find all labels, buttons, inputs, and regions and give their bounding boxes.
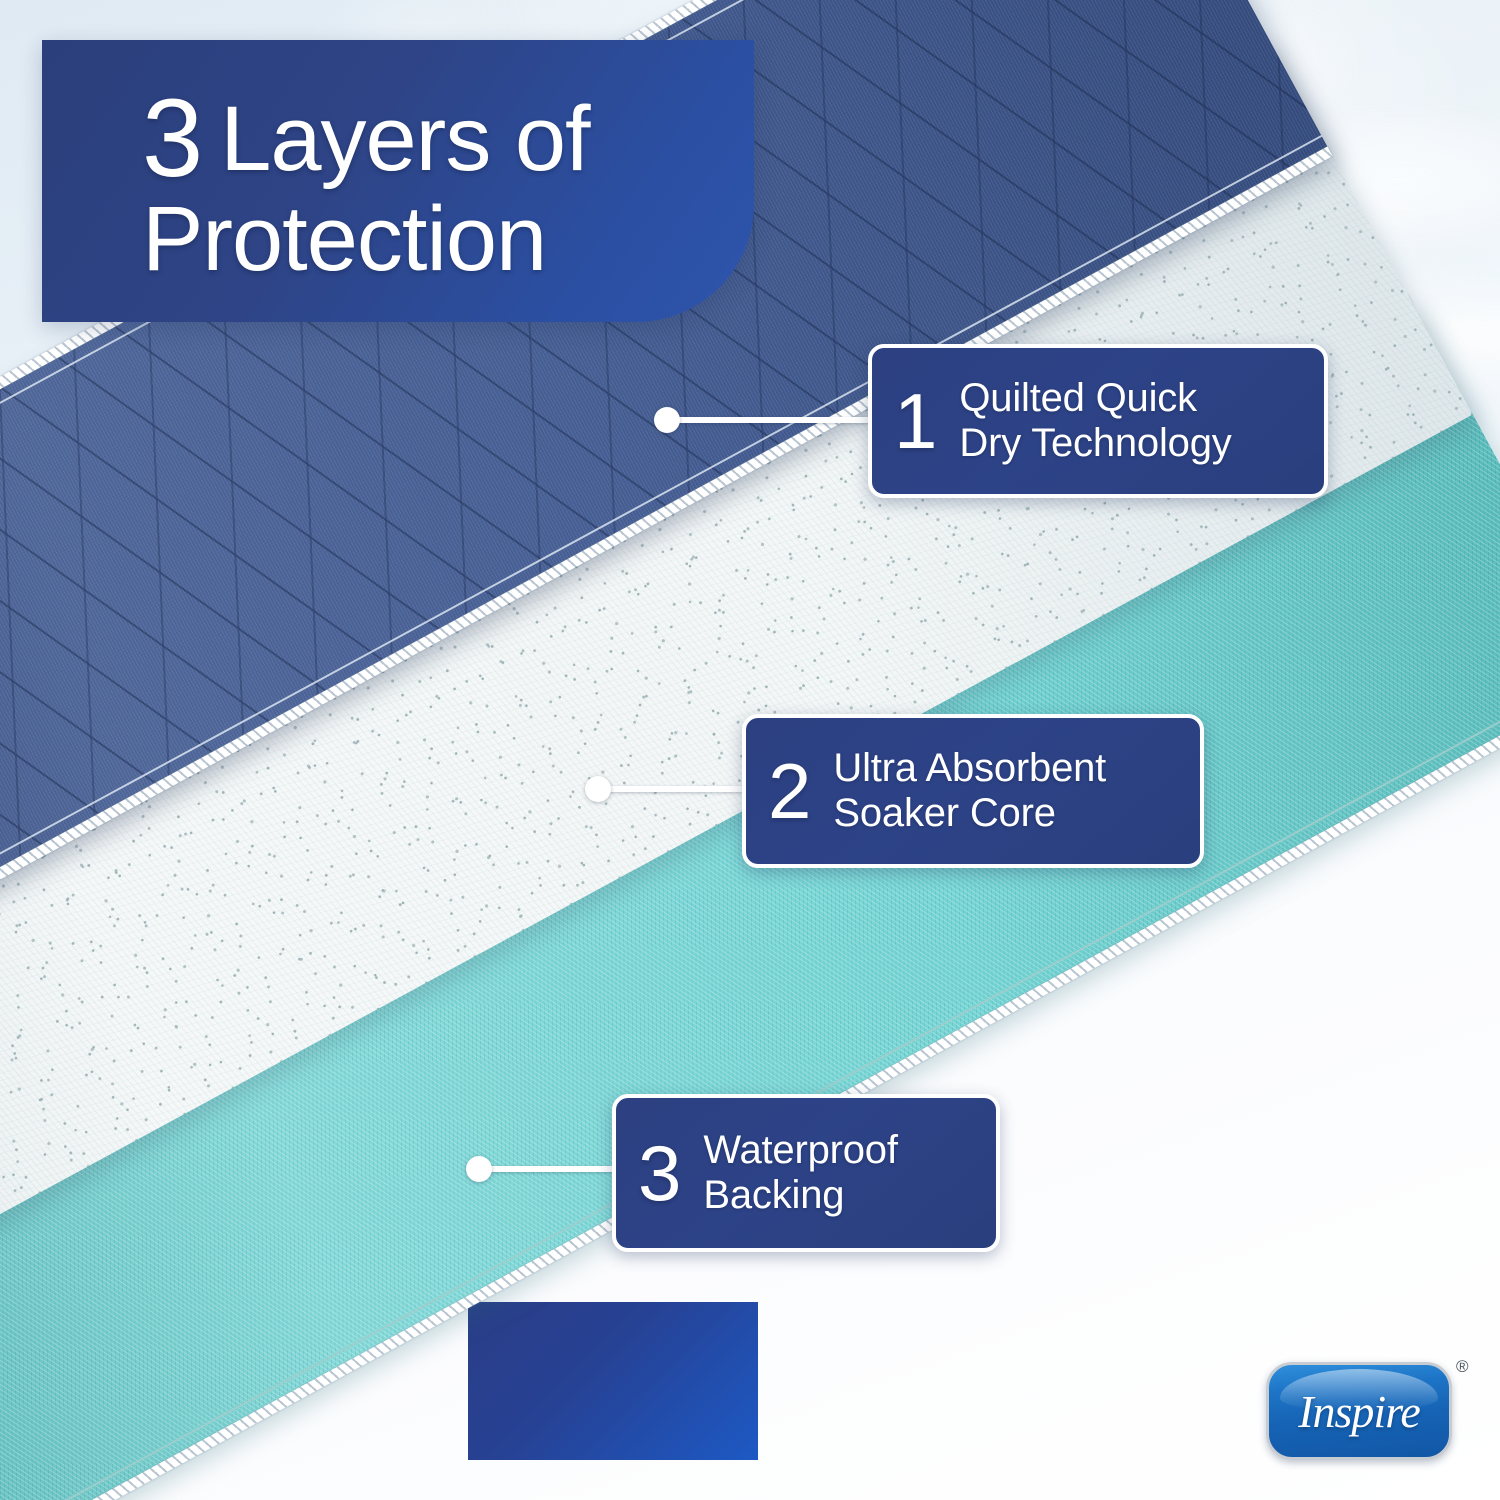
- callout-number-2: 2: [768, 752, 811, 830]
- callout-anchor-dot-1: [654, 407, 680, 433]
- callout-anchor-dot-2: [585, 776, 611, 802]
- title-line-2: Protection: [142, 194, 590, 284]
- product-infographic: 3Layers of Protection 1 Quilted Quick Dr…: [0, 0, 1500, 1500]
- callout-ultra-absorbent-soaker-core[interactable]: 2 Ultra Absorbent Soaker Core: [742, 714, 1204, 868]
- callout-leader-line-3: [478, 1166, 620, 1172]
- callout-number-1: 1: [894, 382, 937, 460]
- title-line-1: Layers of: [220, 88, 589, 190]
- callout-label-3: Waterproof Backing: [703, 1128, 897, 1218]
- callout-quilted-quick-dry[interactable]: 1 Quilted Quick Dry Technology: [868, 344, 1328, 498]
- title-number: 3: [142, 77, 202, 200]
- callout-leader-line-2: [597, 786, 749, 792]
- brand-name: Inspire: [1266, 1362, 1452, 1460]
- callout-leader-line-1: [666, 417, 876, 423]
- callout-label-2: Ultra Absorbent Soaker Core: [833, 746, 1106, 836]
- title-first-line: 3Layers of: [142, 84, 590, 194]
- title-panel: 3Layers of Protection: [42, 40, 754, 322]
- page-title: 3Layers of Protection: [142, 84, 590, 284]
- callout-label-1: Quilted Quick Dry Technology: [959, 376, 1231, 466]
- callout-anchor-dot-3: [466, 1156, 492, 1182]
- registered-trademark-icon: ®: [1456, 1358, 1469, 1375]
- callout-number-3: 3: [638, 1134, 681, 1212]
- callout-waterproof-backing[interactable]: 3 Waterproof Backing: [612, 1094, 1000, 1252]
- brand-logo: Inspire ®: [1266, 1362, 1452, 1460]
